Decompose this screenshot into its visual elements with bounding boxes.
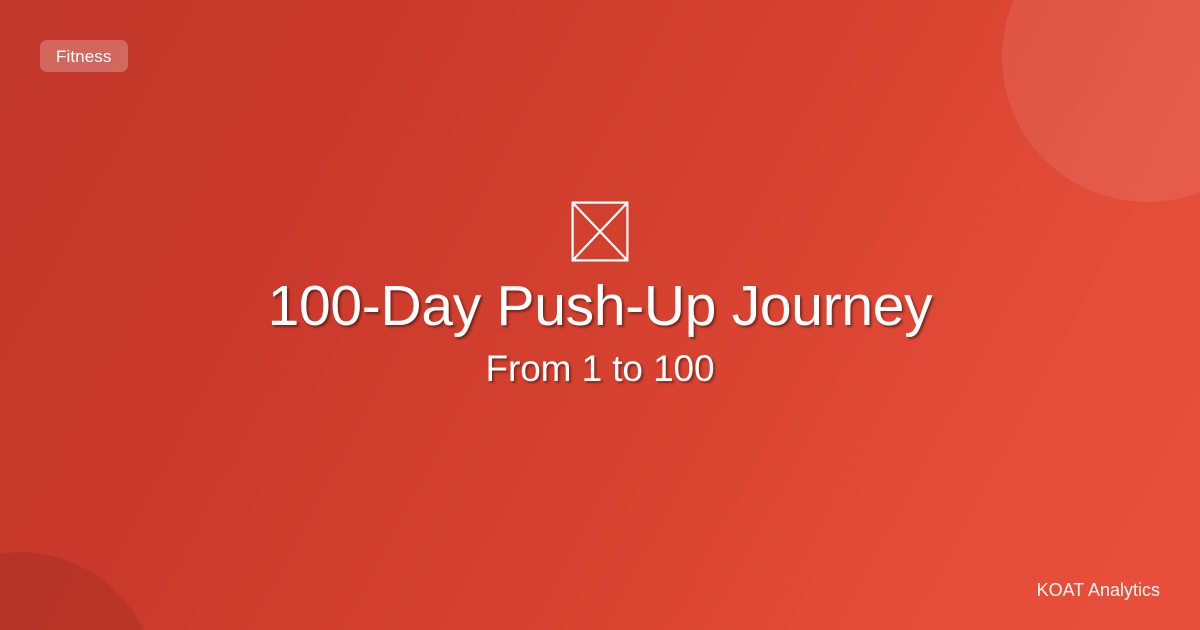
social-share-card: Fitness 100-Day Push-Up Journey From 1 t… xyxy=(0,0,1200,630)
hero-content: 100-Day Push-Up Journey From 1 to 100 xyxy=(0,0,1200,630)
page-title: 100-Day Push-Up Journey xyxy=(268,276,933,338)
broken-image-placeholder-icon xyxy=(571,201,629,262)
attribution-label: KOAT Analytics xyxy=(1037,581,1160,599)
page-subtitle: From 1 to 100 xyxy=(485,348,714,389)
